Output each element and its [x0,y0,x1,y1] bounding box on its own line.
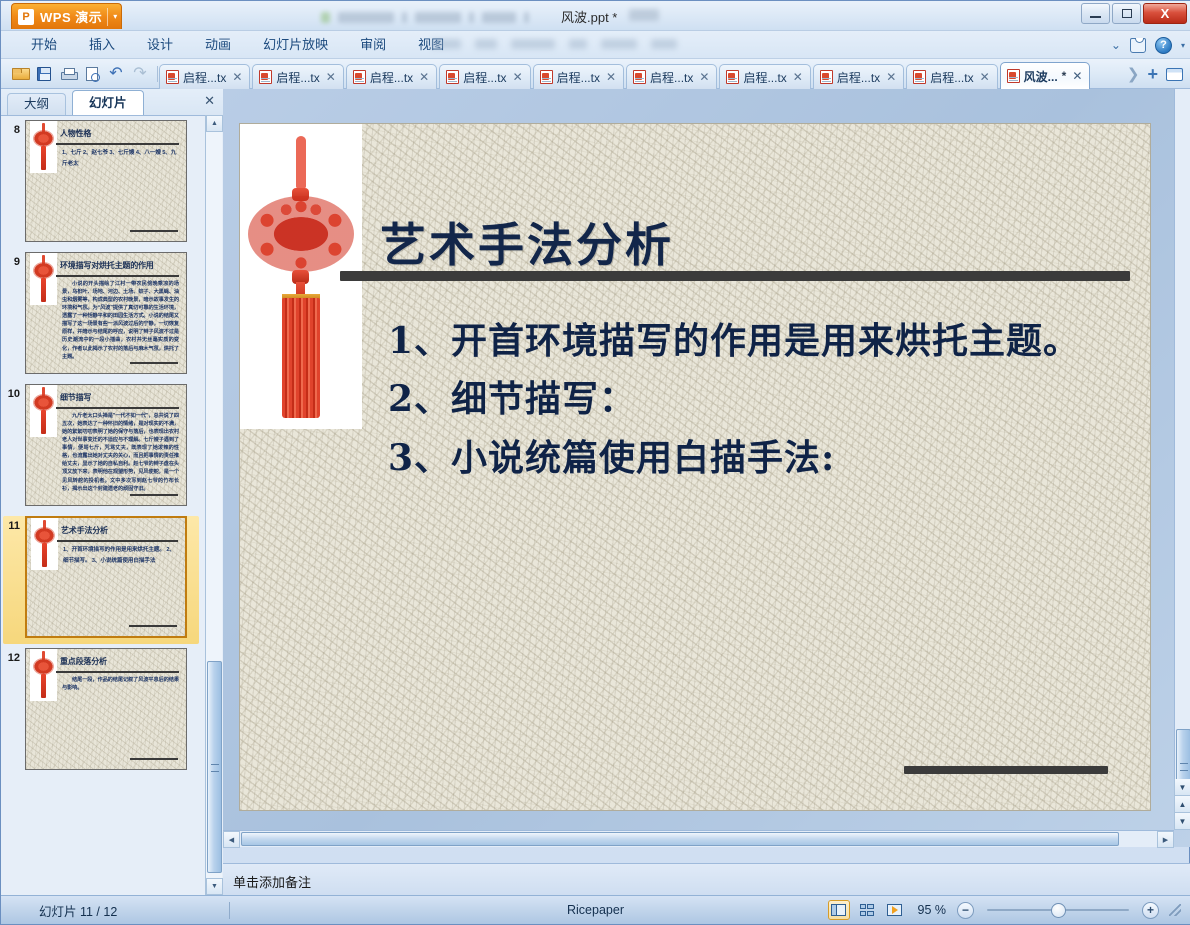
thumb-body: 1、七斤 2、赵七爷 3、七斤嫂 4、八一嫂 5、九斤老太 [62,148,179,170]
close-icon[interactable]: ✕ [699,70,709,84]
thumb-title-rule [56,143,179,145]
close-icon[interactable]: ✕ [232,70,242,84]
save-icon [37,67,51,81]
menu-bar: 开始 插入 设计 动画 幻灯片放映 审阅 视图 ⌄ ? ▾ [1,31,1190,59]
slide-preview[interactable]: 重点段落分析 结尾一段，作品的结尾记叙了风波平息后的结果与影响。 [25,648,187,770]
thumb-title: 环境描写对烘托主题的作用 [60,260,178,271]
chevron-down-icon[interactable]: ▾ [113,12,117,21]
title-bar-blurred-text [321,9,529,25]
doc-tab-label: 风波... [1024,68,1058,85]
menu-item-review[interactable]: 审阅 [344,31,402,59]
close-icon[interactable]: ✕ [326,70,336,84]
doc-tab-label: 启程...tx [276,69,319,86]
doc-tab-label: 启程...tx [370,69,413,86]
close-icon[interactable]: ✕ [419,70,429,84]
slide-sorter-button[interactable] [856,900,878,920]
toolbar-divider [157,66,158,82]
slide-number: 8 [3,120,25,136]
slide-number: 11 [3,516,25,532]
slide-sorter-icon [860,904,874,916]
undo-button[interactable]: ↶ [105,62,127,86]
chevron-down-icon[interactable]: ⌄ [1111,38,1121,52]
body-line: 2、细节描写： [388,370,1132,428]
thumb-title-rule [56,407,179,409]
help-icon[interactable]: ? [1155,37,1172,54]
thumb-footer-rule [130,362,178,364]
thumb-body: 1、开首环境描写的作用是用来烘托主题。 2、细节描写。 3、小说统篇使用白描手法 [63,545,178,567]
menu-item-insert[interactable]: 插入 [73,31,131,59]
thumb-footer-rule [130,758,178,760]
close-icon[interactable]: ✕ [204,93,215,109]
slide-thumbnail-item[interactable]: 10 细节描写 九斤老太口头禅是"一代不如一代"，总共说了四五次，她表达了一种怀… [3,384,199,512]
slide-preview[interactable]: 环境描写对烘托主题的作用 小说的开头描绘了江村一带农民傍晚乘凉的场景，乌桕叶、场… [25,252,187,374]
thumb-title: 重点段落分析 [60,656,178,667]
footer-rule [904,766,1108,774]
doc-tab-label: 启程...tx [837,69,880,86]
close-icon[interactable]: ✕ [513,70,523,84]
close-icon[interactable]: ✕ [793,70,803,84]
scroll-left-button[interactable]: ◀ [223,831,240,848]
panel-vertical-scrollbar[interactable]: ▲ ▼ [205,115,222,895]
doc-tab-label: 启程...tx [557,69,600,86]
document-title: 风波.ppt * [561,7,617,26]
thumb-footer-rule [129,625,177,627]
zoom-in-button[interactable]: + [1142,902,1159,919]
wps-logo-icon: P [18,9,34,25]
zoom-slider[interactable] [983,902,1133,919]
slideshow-icon [887,904,902,916]
thumb-footer-rule [130,230,178,232]
doc-tab[interactable]: 启程...tx ✕ [533,64,624,89]
menu-item-start[interactable]: 开始 [15,31,73,59]
scroll-down-button[interactable]: ▼ [1174,779,1190,796]
scrollbar-thumb[interactable] [207,661,222,873]
menu-bar-right-tools: ⌄ ? ▾ [1111,31,1185,59]
chinese-knot-icon [30,121,57,173]
doc-tab[interactable]: 启程...tx ✕ [159,64,250,89]
window-buttons: X [1081,3,1187,24]
menu-item-slideshow[interactable]: 幻灯片放映 [247,31,344,59]
body-line: 3、小说统篇使用白描手法: [388,429,1132,487]
zoom-out-button[interactable]: − [957,902,974,919]
slide-thumbnail-item[interactable]: 12 重点段落分析 结尾一段，作品的结尾记叙了风波平息后的结果与影响。 [3,648,199,776]
wps-brand-label: WPS 演示 [40,7,102,26]
status-bar-right: 95 % − + [828,900,1182,920]
menu-bar-blurred-region [431,39,677,49]
menu-item-animation[interactable]: 动画 [189,31,247,59]
redo-icon: ↷ [133,66,146,82]
previous-slide-button[interactable]: ▲ [1174,796,1190,813]
undo-icon: ↶ [109,66,122,82]
thumb-title: 细节描写 [60,392,178,403]
slide-thumbnail-item-selected[interactable]: 11 艺术手法分析 1、开首环境描写的作用是用来烘托主题。 2、细节描写。 3、… [3,516,199,644]
new-tab-icon[interactable]: + [1147,65,1158,83]
doc-tab-label: 启程...tx [183,69,226,86]
save-button[interactable] [33,62,55,86]
thumb-body: 结尾一段，作品的结尾记叙了风波平息后的结果与影响。 [62,676,179,692]
chinese-knot-icon [30,385,57,437]
toolbar: ↶ ↷ ▾ ❮ 启程...tx ✕ 启程...tx ✕ 启程...tx ✕ [1,59,1190,89]
chinese-knot-icon [31,518,58,570]
slide-preview[interactable]: 细节描写 九斤老太口头禅是"一代不如一代"，总共说了四五次，她表达了一种怀旧的情… [25,384,187,506]
presentation-file-icon [446,70,459,84]
doc-tab[interactable]: 启程...tx ✕ [626,64,717,89]
editor-horizontal-scrollbar[interactable]: ◀ ▶ [223,830,1174,847]
tab-slides[interactable]: 幻灯片 [72,90,144,115]
scroll-up-button[interactable]: ▲ [206,115,223,132]
open-button[interactable] [9,62,31,86]
notes-pane[interactable]: 单击添加备注 [223,863,1190,895]
zoom-slider-thumb[interactable] [1051,903,1066,918]
editor-vertical-scrollbar[interactable] [1174,89,1190,829]
close-button[interactable]: X [1143,3,1187,24]
tab-outline[interactable]: 大纲 [7,93,66,115]
chinese-knot-icon [30,253,57,305]
presentation-file-icon [820,70,833,84]
close-icon[interactable]: ✕ [886,70,896,84]
minimize-button[interactable] [1081,3,1110,24]
document-tab-strip: 启程...tx ✕ 启程...tx ✕ 启程...tx ✕ 启程...tx ✕ … [159,61,1092,89]
tab-strip-right-tools: ❯ + [1127,59,1183,89]
slide-thumbnail-list[interactable]: 8 人物性格 1、七斤 2、赵七爷 3、七斤嫂 4、八一嫂 5、九斤老太 9 [1,115,223,895]
thumb-title: 艺术手法分析 [61,525,177,536]
scroll-down-button[interactable]: ▼ [206,878,223,895]
thumb-title-rule [56,275,179,277]
presentation-file-icon [913,70,926,84]
normal-view-button[interactable] [828,900,850,920]
menu-items: 开始 插入 设计 动画 幻灯片放映 审阅 视图 [15,31,460,59]
slide-number: 10 [3,384,25,400]
thumb-title-rule [57,540,178,542]
doc-tab[interactable]: 启程...tx ✕ [813,64,904,89]
body-line: 1、开首环境描写的作用是用来烘托主题。 [388,312,1132,370]
scrollbar-thumb[interactable] [241,832,1119,846]
window-list-icon[interactable] [1166,68,1183,81]
doc-tab[interactable]: 启程...tx ✕ [719,64,810,89]
badge-divider [107,8,108,26]
close-icon[interactable]: ✕ [606,70,616,84]
modified-indicator: * [1062,69,1067,83]
slides-panel: 大纲 幻灯片 ✕ 8 人物性格 1、七斤 2、赵七爷 3、七斤嫂 4、八一嫂 5… [1,89,223,895]
print-preview-button[interactable] [81,62,103,86]
doc-tab[interactable]: 启程...tx ✕ [346,64,437,89]
doc-tab[interactable]: 启程...tx ✕ [906,64,997,89]
thumb-title: 人物性格 [60,128,178,139]
thumb-footer-rule [130,494,178,496]
open-icon [12,68,28,80]
presentation-file-icon [259,70,272,84]
slideshow-button[interactable] [884,900,906,920]
doc-tab-label: 启程...tx [463,69,506,86]
print-button[interactable] [57,62,79,86]
menu-item-design[interactable]: 设计 [131,31,189,59]
slide-thumbnail-item[interactable]: 9 环境描写对烘托主题的作用 小说的开头描绘了江村一带农民傍晚乘凉的场景，乌桕叶… [3,252,199,380]
close-icon[interactable]: ✕ [980,70,990,84]
title-underline-rule [340,271,1130,281]
chinese-knot-icon [30,649,57,701]
redo-button[interactable]: ↷ [129,62,151,86]
resize-grip-icon[interactable] [1169,904,1181,916]
skin-icon[interactable] [1130,38,1146,53]
doc-tab[interactable]: 启程...tx ✕ [252,64,343,89]
panel-tab-strip: 大纲 幻灯片 ✕ [1,89,223,115]
title-bar: P WPS 演示 ▾ 风波.ppt * X [1,1,1190,31]
doc-tab-active[interactable]: 风波... * ✕ [1000,62,1091,89]
presentation-file-icon [726,70,739,84]
wps-app-badge[interactable]: P WPS 演示 ▾ [11,3,122,29]
slide-preview[interactable]: 艺术手法分析 1、开首环境描写的作用是用来烘托主题。 2、细节描写。 3、小说统… [25,516,187,638]
slide-navigation-buttons: ▼ ▲ ▼ [1174,779,1190,830]
print-icon [61,68,76,81]
print-preview-icon [86,67,98,81]
zoom-level: 95 % [918,903,947,917]
doc-tab-label: 启程...tx [743,69,786,86]
next-slide-button[interactable]: ▼ [1174,813,1190,830]
wps-presentation-window: P WPS 演示 ▾ 风波.ppt * X 开始 插入 设计 动画 [0,0,1190,925]
help-dropdown-icon[interactable]: ▾ [1181,41,1185,50]
maximize-button[interactable] [1112,3,1141,24]
slide-editor-area: 艺术手法分析 1、开首环境描写的作用是用来烘托主题。 2、细节描写： 3、小说统… [223,89,1190,847]
slide-preview[interactable]: 人物性格 1、七斤 2、赵七爷 3、七斤嫂 4、八一嫂 5、九斤老太 [25,120,187,242]
thumb-body: 小说的开头描绘了江村一带农民傍晚乘凉的场景，乌桕叶、场地、河边、土场、蚊子、大黑… [62,280,179,361]
doc-tab[interactable]: 启程...tx ✕ [439,64,530,89]
slide-body-text[interactable]: 1、开首环境描写的作用是用来烘托主题。 2、细节描写： 3、小说统篇使用白描手法… [388,312,1132,487]
normal-view-icon [831,904,846,916]
thumb-body: 九斤老太口头禅是"一代不如一代"，总共说了四五次，她表达了一种怀旧的情绪，是对现… [62,412,179,493]
status-bar: 幻灯片 11 / 12 Ricepaper 95 % − + [1,895,1190,924]
title-bar-blurred-suffix [629,9,659,21]
close-icon[interactable]: ✕ [1072,69,1082,83]
slide-number: 12 [3,648,25,664]
slide-title[interactable]: 艺术手法分析 [380,209,674,275]
thumb-title-rule [56,671,179,673]
presentation-file-icon [633,70,646,84]
doc-tab-label: 启程...tx [650,69,693,86]
presentation-file-icon [1007,69,1020,83]
presentation-file-icon [166,70,179,84]
scroll-right-button[interactable]: ▶ [1157,831,1174,848]
presentation-file-icon [353,70,366,84]
slide-thumbnail-item[interactable]: 8 人物性格 1、七斤 2、赵七爷 3、七斤嫂 4、八一嫂 5、九斤老太 [3,120,199,248]
presentation-file-icon [540,70,553,84]
slide-number: 9 [3,252,25,268]
chevron-right-icon[interactable]: ❯ [1127,65,1140,83]
current-slide[interactable]: 艺术手法分析 1、开首环境描写的作用是用来烘托主题。 2、细节描写： 3、小说统… [239,123,1151,811]
doc-tab-label: 启程...tx [930,69,973,86]
